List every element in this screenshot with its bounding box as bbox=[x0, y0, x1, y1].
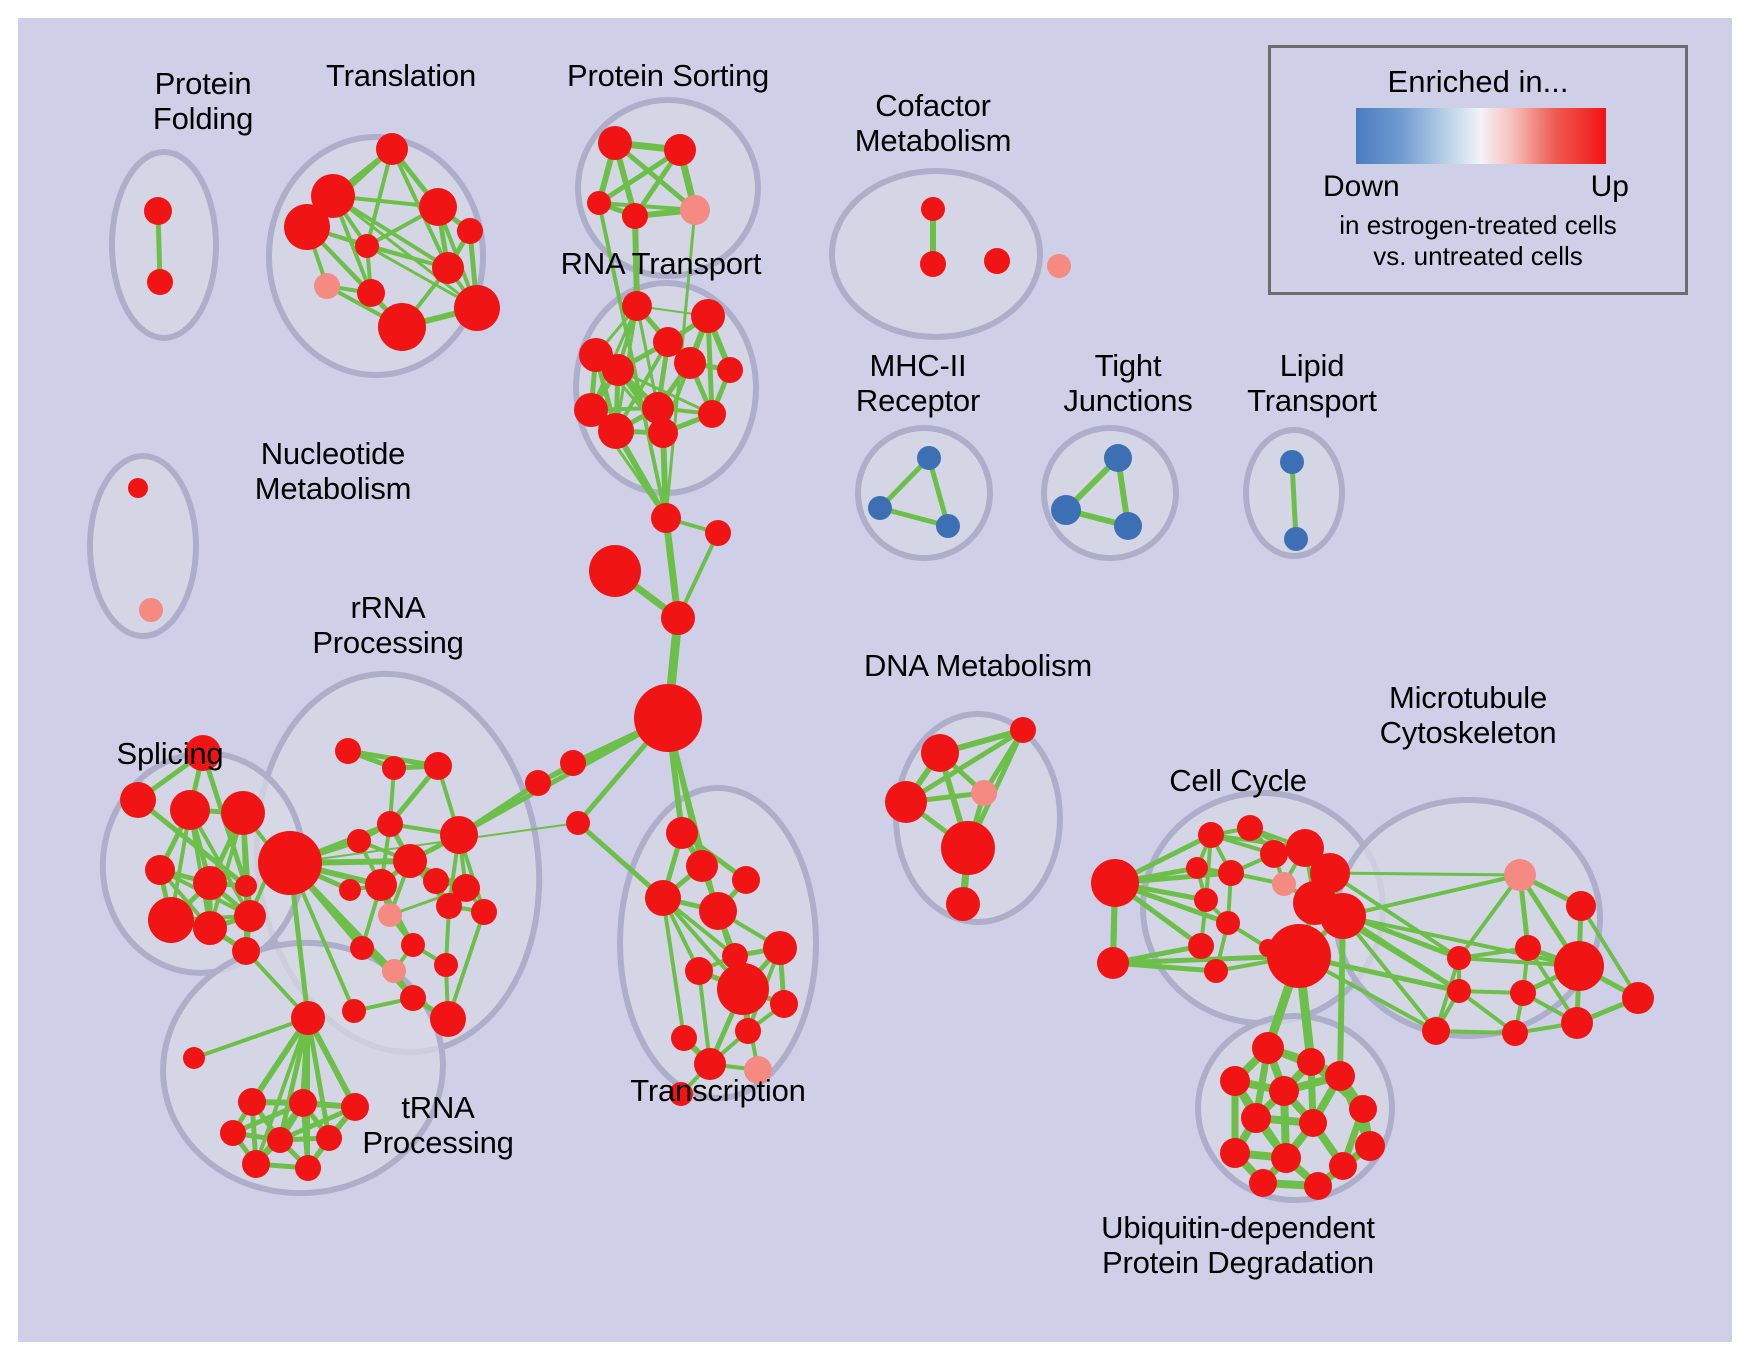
node-microtubule-cytoskeleton[interactable] bbox=[1502, 1020, 1528, 1046]
legend-up-label: Up bbox=[1591, 170, 1629, 204]
node-translation[interactable] bbox=[376, 133, 408, 165]
node-ubiquitin-protein-degradation[interactable] bbox=[1269, 1076, 1299, 1106]
node-translation[interactable] bbox=[314, 273, 340, 299]
bridge-node-6[interactable] bbox=[525, 770, 551, 796]
node-ubiquitin-protein-degradation[interactable] bbox=[1252, 1032, 1284, 1064]
bridge-node-7[interactable] bbox=[566, 811, 590, 835]
node-translation[interactable] bbox=[419, 188, 457, 226]
node-rrna-processing[interactable] bbox=[377, 811, 403, 837]
node-cell-cycle[interactable] bbox=[1194, 888, 1218, 912]
inter-cluster-edge bbox=[1330, 873, 1520, 875]
node-protein-folding[interactable] bbox=[144, 197, 172, 225]
node-translation[interactable] bbox=[357, 279, 385, 307]
bridge-node-1[interactable] bbox=[651, 503, 681, 533]
node-ubiquitin-protein-degradation[interactable] bbox=[1220, 1138, 1250, 1168]
node-trna-processing[interactable] bbox=[341, 1093, 369, 1121]
legend-box: Enriched in... Down Up in estrogen-treat… bbox=[1268, 45, 1688, 295]
node-mhc-ii-receptor[interactable] bbox=[868, 496, 892, 520]
node-ubiquitin-protein-degradation[interactable] bbox=[1329, 1152, 1357, 1180]
legend-subtitle: in estrogen-treated cells vs. untreated … bbox=[1271, 210, 1685, 272]
node-ubiquitin-protein-degradation[interactable] bbox=[1220, 1066, 1250, 1096]
node-rrna-processing[interactable] bbox=[436, 893, 462, 919]
node-trna-processing[interactable] bbox=[295, 1155, 321, 1181]
node-transcription[interactable] bbox=[645, 880, 681, 916]
nucleotide-node-1[interactable] bbox=[128, 478, 148, 498]
node-rna-transport[interactable] bbox=[717, 357, 743, 383]
node-rrna-processing[interactable] bbox=[401, 933, 425, 957]
node-microtubule-cytoskeleton[interactable] bbox=[1422, 1017, 1450, 1045]
node-microtubule-cytoskeleton[interactable] bbox=[1561, 1007, 1593, 1039]
node-ubiquitin-protein-degradation[interactable] bbox=[1297, 1048, 1325, 1076]
node-protein-sorting[interactable] bbox=[598, 126, 632, 160]
node-cell-cycle[interactable] bbox=[1267, 924, 1331, 988]
node-mhc-ii-receptor[interactable] bbox=[917, 446, 941, 470]
node-translation[interactable] bbox=[432, 252, 464, 284]
node-translation[interactable] bbox=[284, 204, 330, 250]
node-ubiquitin-protein-degradation[interactable] bbox=[1241, 1103, 1271, 1133]
node-trna-processing[interactable] bbox=[267, 1127, 293, 1153]
node-microtubule-cytoskeleton[interactable] bbox=[1622, 982, 1654, 1014]
node-microtubule-cytoskeleton[interactable] bbox=[1515, 935, 1541, 961]
node-rrna-processing[interactable] bbox=[342, 999, 366, 1023]
node-cell-cycle[interactable] bbox=[1216, 911, 1240, 935]
node-cell-cycle[interactable] bbox=[1218, 860, 1244, 886]
node-transcription[interactable] bbox=[694, 1048, 726, 1080]
node-splicing[interactable] bbox=[235, 875, 257, 897]
node-splicing[interactable] bbox=[170, 790, 210, 830]
node-splicing[interactable] bbox=[232, 937, 260, 965]
node-rrna-processing[interactable] bbox=[258, 831, 322, 895]
cluster-hull-protein-folding[interactable] bbox=[112, 152, 216, 338]
node-transcription[interactable] bbox=[699, 892, 737, 930]
node-dna-metabolism[interactable] bbox=[941, 821, 995, 875]
bridge-node-5[interactable] bbox=[560, 750, 586, 776]
node-rrna-processing[interactable] bbox=[382, 756, 406, 780]
node-splicing[interactable] bbox=[148, 897, 194, 943]
node-rrna-processing[interactable] bbox=[382, 959, 406, 983]
node-tight-junctions[interactable] bbox=[1051, 495, 1081, 525]
node-protein-sorting[interactable] bbox=[622, 203, 648, 229]
node-rna-transport[interactable] bbox=[648, 418, 678, 448]
node-rrna-processing[interactable] bbox=[339, 879, 361, 901]
node-rrna-processing[interactable] bbox=[471, 899, 497, 925]
node-protein-sorting[interactable] bbox=[680, 195, 710, 225]
node-microtubule-cytoskeleton[interactable] bbox=[1447, 946, 1471, 970]
node-cell-cycle[interactable] bbox=[1320, 893, 1366, 939]
node-rrna-processing[interactable] bbox=[400, 985, 426, 1011]
node-rrna-processing[interactable] bbox=[440, 816, 478, 854]
node-rrna-processing[interactable] bbox=[430, 1001, 466, 1037]
node-cofactor-metabolism[interactable] bbox=[1047, 254, 1071, 278]
node-ubiquitin-protein-degradation[interactable] bbox=[1249, 1169, 1277, 1197]
bridge-hub-node[interactable] bbox=[634, 684, 702, 752]
node-dna-metabolism[interactable] bbox=[1010, 717, 1036, 743]
node-rrna-processing[interactable] bbox=[393, 844, 427, 878]
node-rrna-processing[interactable] bbox=[424, 752, 452, 780]
node-rna-transport[interactable] bbox=[602, 354, 634, 386]
node-microtubule-cytoskeleton[interactable] bbox=[1447, 979, 1471, 1003]
node-tight-junctions[interactable] bbox=[1114, 512, 1142, 540]
node-microtubule-cytoskeleton[interactable] bbox=[1510, 980, 1536, 1006]
node-rrna-processing[interactable] bbox=[434, 953, 458, 977]
node-dna-metabolism[interactable] bbox=[921, 734, 959, 772]
node-cofactor-metabolism[interactable] bbox=[984, 248, 1010, 274]
node-transcription[interactable] bbox=[666, 817, 698, 849]
node-translation[interactable] bbox=[355, 234, 379, 258]
node-lipid-transport[interactable] bbox=[1280, 450, 1304, 474]
node-cell-cycle[interactable] bbox=[1097, 947, 1129, 979]
node-transcription[interactable] bbox=[744, 1056, 772, 1084]
node-transcription[interactable] bbox=[763, 931, 797, 965]
node-rna-transport[interactable] bbox=[698, 400, 726, 428]
node-ubiquitin-protein-degradation[interactable] bbox=[1271, 1143, 1301, 1173]
node-transcription[interactable] bbox=[735, 1018, 761, 1044]
node-rna-transport[interactable] bbox=[674, 347, 706, 379]
node-ubiquitin-protein-degradation[interactable] bbox=[1355, 1131, 1385, 1161]
inter-cluster-edge bbox=[1340, 916, 1343, 1076]
node-mhc-ii-receptor[interactable] bbox=[936, 514, 960, 538]
legend-down-label: Down bbox=[1323, 170, 1400, 204]
node-dna-metabolism[interactable] bbox=[885, 781, 927, 823]
node-ubiquitin-protein-degradation[interactable] bbox=[1299, 1109, 1327, 1137]
splicing-outer-node-1[interactable] bbox=[185, 735, 221, 771]
node-transcription[interactable] bbox=[732, 866, 760, 894]
node-transcription[interactable] bbox=[671, 1025, 697, 1051]
node-dna-metabolism[interactable] bbox=[971, 780, 997, 806]
bridge-node-3[interactable] bbox=[589, 545, 641, 597]
node-transcription[interactable] bbox=[686, 850, 718, 882]
node-rrna-processing[interactable] bbox=[350, 936, 374, 960]
node-trna-processing[interactable] bbox=[291, 1001, 325, 1035]
node-splicing[interactable] bbox=[193, 866, 227, 900]
node-ubiquitin-protein-degradation[interactable] bbox=[1304, 1172, 1332, 1200]
node-rrna-processing[interactable] bbox=[423, 868, 449, 894]
node-trna-processing[interactable] bbox=[289, 1089, 317, 1117]
node-translation[interactable] bbox=[378, 303, 426, 351]
node-protein-folding[interactable] bbox=[147, 269, 173, 295]
node-ubiquitin-protein-degradation[interactable] bbox=[1325, 1061, 1355, 1091]
node-cofactor-metabolism[interactable] bbox=[921, 197, 945, 221]
node-transcription[interactable] bbox=[717, 963, 769, 1015]
node-protein-sorting[interactable] bbox=[664, 134, 696, 166]
splicing-outer-node-2[interactable] bbox=[120, 782, 156, 818]
node-microtubule-cytoskeleton[interactable] bbox=[1566, 891, 1596, 921]
node-cell-cycle[interactable] bbox=[1204, 959, 1228, 983]
node-cofactor-metabolism[interactable] bbox=[920, 251, 946, 277]
node-cell-cycle[interactable] bbox=[1198, 822, 1224, 848]
node-rna-transport[interactable] bbox=[622, 291, 652, 321]
node-lipid-transport[interactable] bbox=[1284, 527, 1308, 551]
node-cell-cycle[interactable] bbox=[1237, 815, 1263, 841]
node-rrna-processing[interactable] bbox=[335, 738, 361, 764]
node-trna-processing[interactable] bbox=[238, 1088, 266, 1116]
node-cell-cycle[interactable] bbox=[1186, 857, 1208, 879]
node-rrna-processing[interactable] bbox=[365, 869, 397, 901]
node-trna-processing[interactable] bbox=[183, 1047, 205, 1069]
node-ubiquitin-protein-degradation[interactable] bbox=[1349, 1095, 1377, 1123]
node-splicing[interactable] bbox=[234, 900, 266, 932]
node-transcription[interactable] bbox=[685, 957, 713, 985]
node-translation[interactable] bbox=[457, 218, 483, 244]
node-translation[interactable] bbox=[454, 285, 500, 331]
node-cell-cycle[interactable] bbox=[1272, 872, 1296, 896]
node-cell-cycle[interactable] bbox=[1091, 859, 1139, 907]
bridge-node-2[interactable] bbox=[705, 520, 731, 546]
node-rna-transport[interactable] bbox=[691, 299, 725, 333]
node-rrna-processing[interactable] bbox=[347, 829, 371, 853]
node-transcription[interactable] bbox=[770, 990, 798, 1018]
node-rrna-processing[interactable] bbox=[378, 903, 402, 927]
node-trna-processing[interactable] bbox=[242, 1150, 270, 1178]
node-splicing[interactable] bbox=[221, 791, 265, 835]
figure-canvas: Protein FoldingTranslationProtein Sortin… bbox=[0, 0, 1750, 1360]
node-splicing[interactable] bbox=[193, 911, 227, 945]
node-tight-junctions[interactable] bbox=[1104, 444, 1132, 472]
node-cell-cycle[interactable] bbox=[1188, 933, 1214, 959]
bridge-node-4[interactable] bbox=[661, 601, 695, 635]
node-transcription[interactable] bbox=[669, 1082, 693, 1106]
node-dna-metabolism[interactable] bbox=[946, 887, 980, 921]
node-rna-transport[interactable] bbox=[598, 413, 634, 449]
node-microtubule-cytoskeleton[interactable] bbox=[1504, 859, 1536, 891]
node-trna-processing[interactable] bbox=[316, 1125, 342, 1151]
node-protein-sorting[interactable] bbox=[587, 191, 611, 215]
node-splicing[interactable] bbox=[265, 844, 287, 866]
node-trna-processing[interactable] bbox=[220, 1120, 246, 1146]
legend-color-gradient bbox=[1356, 108, 1606, 164]
legend-title: Enriched in... bbox=[1271, 64, 1685, 100]
node-cell-cycle[interactable] bbox=[1260, 840, 1288, 868]
node-microtubule-cytoskeleton[interactable] bbox=[1554, 941, 1604, 991]
nucleotide-node-2[interactable] bbox=[139, 598, 163, 622]
node-splicing[interactable] bbox=[145, 855, 175, 885]
